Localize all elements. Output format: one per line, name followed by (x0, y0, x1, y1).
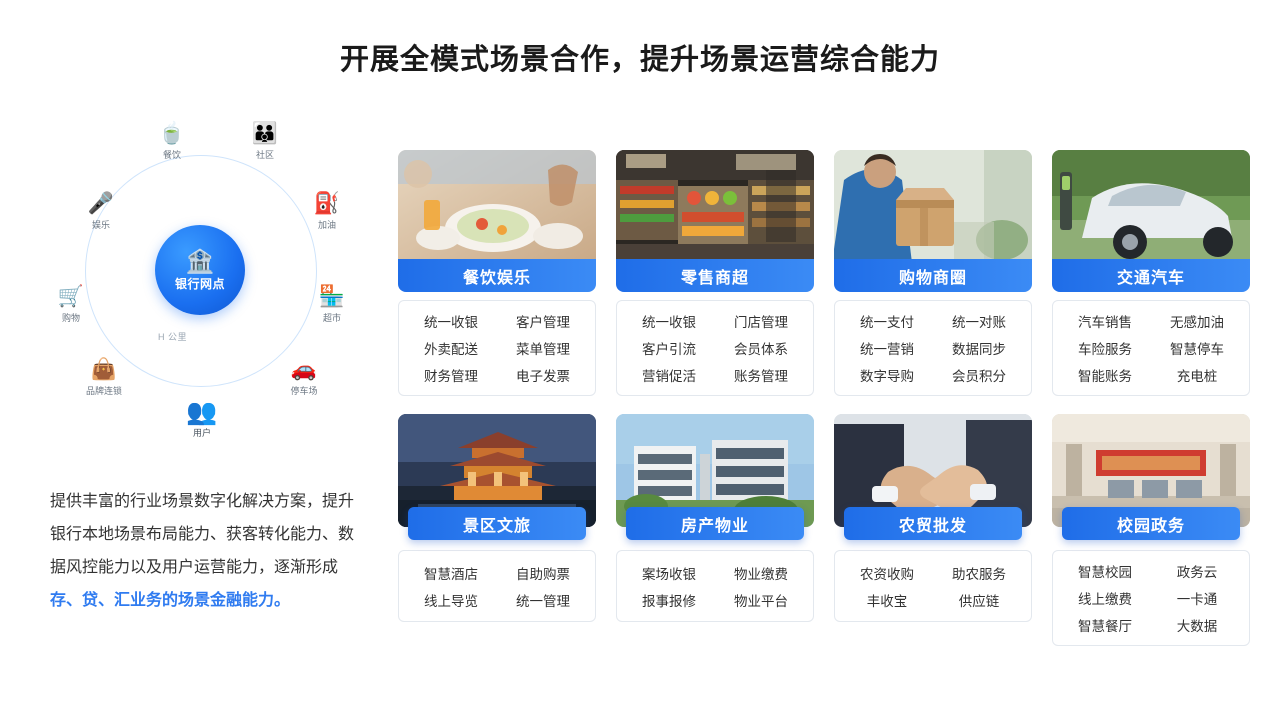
card-title-banner: 校园政务 (1062, 507, 1240, 540)
card-tag: 自助购票 (516, 563, 570, 583)
card-tag-list: 智慧酒店 自助购票 线上导览 统一管理 (398, 550, 596, 622)
scenario-card-retail-supermarket[interactable]: 零售商超 统一收银 门店管理 客户引流 会员体系 营销促活 账务管理 (616, 150, 814, 396)
card-tag-list: 智慧校园 政务云 线上缴费 一卡通 智慧餐厅 大数据 (1052, 550, 1250, 646)
node-brand-chain: 👜 品牌连锁 (75, 358, 133, 397)
card-tag: 物业平台 (734, 590, 788, 610)
scenario-card-campus-government[interactable]: 校园政务 智慧校园 政务云 线上缴费 一卡通 智慧餐厅 大数据 (1052, 414, 1250, 646)
card-tag-list: 农资收购 助农服务 丰收宝 供应链 (834, 550, 1032, 622)
page-title: 开展全模式场景合作，提升场景运营综合能力 (0, 36, 1280, 78)
card-tag: 会员体系 (734, 338, 788, 358)
card-tag: 智能账务 (1078, 365, 1132, 385)
card-tag: 农资收购 (860, 563, 914, 583)
card-tag: 电子发票 (516, 365, 570, 385)
center-node-label: 银行网点 (175, 275, 225, 292)
card-tag: 智慧校园 (1078, 561, 1132, 581)
microphone-icon: 🎤 (72, 192, 130, 216)
card-tag: 政务云 (1177, 561, 1218, 581)
description-text: 提供丰富的行业场景数字化解决方案，提升银行本地场景布局能力、获客转化能力、数据风… (50, 493, 354, 576)
node-parking: 🚗 停车场 (275, 358, 333, 397)
node-supermarket: 🏪 超市 (303, 285, 361, 324)
node-community: 👪 社区 (236, 122, 294, 161)
dining-table-photo (398, 150, 596, 263)
card-tag: 统一管理 (516, 590, 570, 610)
card-tag: 客户引流 (642, 338, 696, 358)
diagram-center-node: 🏦 银行网点 (155, 225, 245, 315)
card-tag: 大数据 (1177, 615, 1218, 635)
node-dining: 🍵 餐饮 (143, 122, 201, 161)
ev-charging-photo (1052, 150, 1250, 263)
card-tag: 智慧停车 (1170, 338, 1224, 358)
card-tag: 营销促活 (642, 365, 696, 385)
card-tag: 客户管理 (516, 311, 570, 331)
scenario-card-agricultural-wholesale[interactable]: 农贸批发 农资收购 助农服务 丰收宝 供应链 (834, 414, 1032, 646)
card-tag: 无感加油 (1170, 311, 1224, 331)
node-shopping: 🛒 购物 (42, 285, 100, 324)
card-tag: 菜单管理 (516, 338, 570, 358)
card-tag: 财务管理 (424, 365, 478, 385)
scenario-card-scenic-tourism[interactable]: 景区文旅 智慧酒店 自助购票 线上导览 统一管理 (398, 414, 596, 646)
supermarket-aisle-photo (616, 150, 814, 263)
food-drink-icon: 🍵 (143, 122, 201, 146)
card-tag: 汽车销售 (1078, 311, 1132, 331)
node-user: 👥 用户 (173, 400, 231, 439)
scenario-card-dining-entertainment[interactable]: 餐饮娱乐 统一收银 客户管理 外卖配送 菜单管理 财务管理 电子发票 (398, 150, 596, 396)
card-tag: 物业缴费 (734, 563, 788, 583)
card-tag: 外卖配送 (424, 338, 478, 358)
car-parking-icon: 🚗 (275, 358, 333, 382)
card-tag: 统一收银 (424, 311, 478, 331)
card-tag: 统一营销 (860, 338, 914, 358)
card-tag: 线上导览 (424, 590, 478, 610)
card-tag: 统一支付 (860, 311, 914, 331)
card-title-banner: 购物商圈 (834, 259, 1032, 292)
card-tag: 统一收银 (642, 311, 696, 331)
radius-label: H 公里 (158, 330, 187, 343)
card-tag: 车险服务 (1078, 338, 1132, 358)
card-tag: 智慧餐厅 (1078, 615, 1132, 635)
node-fuel: ⛽ 加油 (298, 192, 356, 231)
card-tag: 供应链 (959, 590, 1000, 610)
card-title-banner: 农贸批发 (844, 507, 1022, 540)
card-tag: 数字导购 (860, 365, 914, 385)
card-title-banner: 交通汽车 (1052, 259, 1250, 292)
card-tag: 统一对账 (952, 311, 1006, 331)
card-tag: 数据同步 (952, 338, 1006, 358)
card-tag: 助农服务 (952, 563, 1006, 583)
circle-diagram: 🏦 银行网点 H 公里 🍵 餐饮 👪 社区 ⛽ 加油 🏪 超市 🚗 停车场 👜 … (30, 130, 370, 470)
card-tag: 账务管理 (734, 365, 788, 385)
card-tag: 丰收宝 (867, 590, 908, 610)
scenario-card-real-estate-property[interactable]: 房产物业 案场收银 物业缴费 报事报修 物业平台 (616, 414, 814, 646)
bank-icon: 🏦 (186, 249, 215, 273)
scenario-card-shopping-district[interactable]: 购物商圈 统一支付 统一对账 统一营销 数据同步 数字导购 会员积分 (834, 150, 1032, 396)
shopping-cart-icon: 🛒 (42, 285, 100, 309)
card-tag-list: 统一收银 客户管理 外卖配送 菜单管理 财务管理 电子发票 (398, 300, 596, 396)
scenario-circle-panel: 🏦 银行网点 H 公里 🍵 餐饮 👪 社区 ⛽ 加油 🏪 超市 🚗 停车场 👜 … (30, 130, 370, 690)
handbag-icon: 👜 (75, 358, 133, 382)
card-tag: 一卡通 (1177, 588, 1218, 608)
card-tag: 会员积分 (952, 365, 1006, 385)
card-title-banner: 零售商超 (616, 259, 814, 292)
store-icon: 🏪 (303, 285, 361, 309)
card-tag: 报事报修 (642, 590, 696, 610)
card-title-banner: 景区文旅 (408, 507, 586, 540)
node-entertainment: 🎤 娱乐 (72, 192, 130, 231)
card-tag: 门店管理 (734, 311, 788, 331)
user-group-icon: 👥 (173, 400, 231, 424)
community-people-icon: 👪 (236, 122, 294, 146)
card-tag-list: 汽车销售 无感加油 车险服务 智慧停车 智能账务 充电桩 (1052, 300, 1250, 396)
scenario-description: 提供丰富的行业场景数字化解决方案，提升银行本地场景布局能力、获客转化能力、数据风… (50, 485, 365, 617)
description-highlight: 存、贷、汇业务的场景金融能力。 (50, 592, 290, 609)
card-title-banner: 餐饮娱乐 (398, 259, 596, 292)
delivery-courier-photo (834, 150, 1032, 263)
scenario-cards-grid: 餐饮娱乐 统一收银 客户管理 外卖配送 菜单管理 财务管理 电子发票 (398, 150, 1250, 646)
card-tag: 智慧酒店 (424, 563, 478, 583)
card-tag-list: 案场收银 物业缴费 报事报修 物业平台 (616, 550, 814, 622)
card-title-banner: 房产物业 (626, 507, 804, 540)
card-tag-list: 统一支付 统一对账 统一营销 数据同步 数字导购 会员积分 (834, 300, 1032, 396)
card-tag: 充电桩 (1177, 365, 1218, 385)
scenario-card-transport-automobile[interactable]: 交通汽车 汽车销售 无感加油 车险服务 智慧停车 智能账务 充电桩 (1052, 150, 1250, 396)
fuel-pump-icon: ⛽ (298, 192, 356, 216)
card-tag-list: 统一收银 门店管理 客户引流 会员体系 营销促活 账务管理 (616, 300, 814, 396)
card-tag: 线上缴费 (1078, 588, 1132, 608)
card-tag: 案场收银 (642, 563, 696, 583)
